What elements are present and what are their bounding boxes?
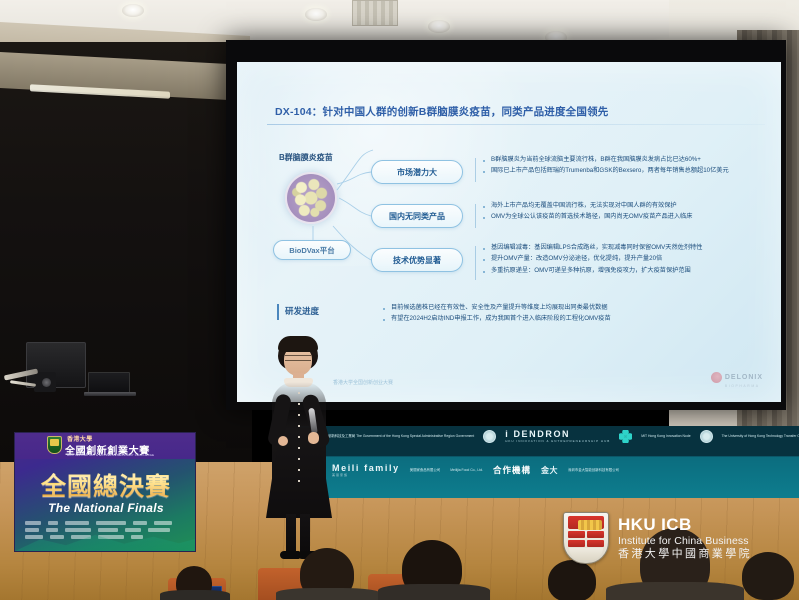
laptop: [88, 372, 130, 394]
partner-chip-icon: [46, 528, 58, 532]
bullet-group-technology: 基因编辑减毒：基因编辑LPS合成路丝，实现减毒同时保留OMV天然佐剂特性 提升O…: [483, 244, 702, 278]
bullet-dot-icon: [483, 206, 485, 208]
bullet-dot-icon: [383, 308, 385, 310]
presenter-right-hand: [308, 432, 319, 444]
hku-seal-icon: [483, 430, 496, 443]
bullet-text: 目前候选菌株已经在有效性、安全性及产量提升等维度上均展现出同类最优数据: [391, 304, 608, 312]
bullet-item: 提升OMV产量：改造OMV分泌途径，优化提纯，提升产量20倍: [483, 255, 702, 263]
idendron-name: i DENDRON: [505, 429, 570, 439]
idendron-brand: i DENDRON HKU INNOVATION & ENTREPRENEURS…: [505, 429, 610, 443]
audience-head: [548, 560, 596, 600]
partner-chip-icon: [133, 521, 147, 525]
audience-shoulders: [276, 588, 380, 600]
sponsor-text-tto: The University of Hong Kong Technology T…: [722, 434, 799, 439]
delonix-tagline: BIOPHARMA: [725, 384, 763, 388]
bullet-item: 海外上市产品均无覆盖中国流行株，无法实现对中国人群的有效保护: [483, 202, 692, 210]
partner-chip-icon: [25, 528, 39, 532]
downlight-icon: [305, 8, 327, 21]
bullet-dot-icon: [483, 217, 485, 219]
hku-tto-icon: [700, 430, 713, 443]
kingda-brand: 金大: [541, 465, 558, 476]
delonix-logo: DELONIX BIOPHARMA: [711, 366, 763, 388]
hku-crest-icon: [563, 512, 609, 564]
bullet-item: 多重抗原递呈：OMV可递呈多种抗原，增强免疫攻力，扩大疫苗保护范围: [483, 267, 702, 275]
banner-logo-row: [25, 528, 187, 532]
hku-crest-icon: [47, 436, 62, 454]
sponsor-banner: 創新科技及工業局 The Government of the Hong Kong…: [300, 426, 799, 498]
crest-quarter: [568, 531, 585, 538]
bacteria-illustration-icon: [285, 172, 337, 224]
partner-chip-icon: [25, 535, 43, 539]
partner-chip-icon: [50, 535, 64, 539]
sponsor-top-row: 創新科技及工業局 The Government of the Hong Kong…: [306, 429, 799, 443]
crest-quarter: [568, 540, 585, 547]
partner-chip-icon: [48, 521, 58, 525]
title-divider: [267, 124, 765, 125]
product-category-label: B群脑膜炎疫苗: [279, 152, 333, 163]
banner-title-en-small: HKU INNOVATION & ENTREPRENEURSHIP CHALLE…: [67, 453, 154, 457]
bullet-text: 有望在2024H2启动IND申报工作，成为我国首个进入临床阶段的工程化OMV疫苗: [391, 315, 611, 323]
presenter-left-hand: [278, 436, 288, 446]
bullet-divider: [475, 204, 476, 228]
audience-shoulders: [606, 582, 744, 600]
bullet-divider: [475, 246, 476, 280]
meilijia-food-en: Meilijia Food Co., Ltd.: [450, 468, 483, 473]
slide-title: DX-104：针对中国人群的创新B群脑膜炎疫苗，同类产品进度全国领先: [275, 104, 755, 119]
presenter-left-leg: [286, 514, 296, 554]
wall-left: [0, 42, 252, 462]
rd-progress-label: 研发进度: [285, 305, 319, 317]
rd-progress-bullets: 目前候选菌株已经在有效性、安全性及产量提升等维度上均展现出同类最优数据 有望在2…: [383, 304, 611, 327]
crest-shield-icon: [50, 439, 59, 446]
sponsor-text-hksar: 創新科技及工業局 The Government of the Hong Kong…: [328, 434, 474, 439]
shenzhen-kimdai-cn: 深圳市金大智能创新科技有限公司: [568, 468, 619, 473]
merit-pill-domestic: 国内无同类产品: [371, 204, 463, 228]
bullet-item: 有望在2024H2启动IND申报工作，成为我国首个进入临床阶段的工程化OMV疫苗: [383, 315, 611, 323]
bullet-text: 国际已上市产品包括辉瑞的Trumenba和GSK的Bexsero，两者每年销售总…: [491, 167, 729, 175]
bullet-group-market: B群脑膜炎为当前全球流脑主要流行株，B群在我国脑膜炎发病占比已达60%+ 国际已…: [483, 156, 729, 179]
partner-chip-icon: [125, 528, 141, 532]
presenter-left-shoe: [280, 551, 300, 559]
hku-icb-watermark: HKU ICB Institute for China Business 香港大…: [563, 512, 752, 564]
bullet-item: 基因编辑减毒：基因编辑LPS合成路丝，实现减毒同时保留OMV天然佐剂特性: [483, 244, 702, 252]
banner-main-title: 全國總決賽: [25, 467, 187, 503]
bullet-item: 国际已上市产品包括辉瑞的Trumenba和GSK的Bexsero，两者每年销售总…: [483, 167, 729, 175]
bullet-item: 目前候选菌株已经在有效性、安全性及产量提升等维度上均展现出同类最优数据: [383, 304, 611, 312]
merit-pill-technology: 技术优势显著: [371, 248, 463, 272]
crest-quarter: [587, 531, 604, 538]
partners-label: 合作機構: [493, 464, 531, 476]
sponsor-text-mit: MIT Hong Kong Innovation Node: [641, 434, 690, 439]
watermark-line3: 香港大學中國商業學院: [618, 548, 752, 561]
crest-banner: [568, 516, 604, 529]
audience-shoulders: [160, 590, 230, 600]
bullet-divider: [475, 158, 476, 182]
glasses-icon: [285, 355, 311, 361]
merit-pill-market: 市场潜力大: [371, 160, 463, 184]
watermark-line2: Institute for China Business: [618, 535, 752, 548]
crest-quarter: [587, 540, 604, 547]
partner-chip-icon: [65, 528, 91, 532]
presenter-fringe: [278, 336, 318, 352]
mit-node-flower-icon: [619, 430, 632, 443]
sponsor-bottom-row: Meili family 美丽家族 美丽家食品有限公司 Meilijia Foo…: [306, 462, 619, 478]
laptop-base: [84, 392, 136, 396]
bullet-text: OMV为全球公认该疫苗的首选技术路径，国内尚无OMV疫苗产品进入临床: [491, 213, 692, 221]
partner-chip-icon: [65, 521, 89, 525]
banner-logo-row: [25, 521, 187, 525]
dress-buttons: [298, 392, 300, 488]
crest-lions-icon: [578, 520, 602, 530]
bullet-dot-icon: [483, 248, 485, 250]
crest-motto-scroll: [569, 548, 603, 560]
delonix-name: DELONIX: [725, 374, 763, 381]
bullet-text: 海外上市产品均无覆盖中国流行株，无法实现对中国人群的有效保护: [491, 202, 677, 210]
partner-chip-icon: [148, 528, 170, 532]
lecture-hall-scene: DX-104：针对中国人群的创新B群脑膜炎疫苗，同类产品进度全国领先 B群脑膜炎…: [0, 0, 799, 600]
partner-chip-icon: [98, 528, 118, 532]
section-accent-bar: [277, 304, 279, 320]
bullet-text: B群脑膜炎为当前全球流脑主要流行株，B群在我国脑膜炎发病占比已达60%+: [491, 156, 701, 164]
presenter: [252, 336, 344, 568]
national-finals-banner: 香港大學 全國創新創業大賽 HKU INNOVATION & ENTREPREN…: [14, 432, 196, 552]
ceiling-vent: [352, 0, 398, 26]
partner-chip-icon: [25, 521, 41, 525]
bullet-dot-icon: [383, 319, 385, 321]
bullet-item: OMV为全球公认该疫苗的首选技术路径，国内尚无OMV疫苗产品进入临床: [483, 213, 692, 221]
downlight-icon: [122, 4, 144, 17]
bullet-dot-icon: [483, 259, 485, 261]
tripod-knob: [42, 378, 51, 387]
idendron-sub: HKU INNOVATION & ENTREPRENEURSHIP HUB: [505, 439, 610, 443]
meilijia-food-cn: 美丽家食品有限公司: [410, 468, 441, 473]
bullet-text: 提升OMV产量：改造OMV分泌途径，优化提纯，提升产量20倍: [491, 255, 662, 263]
partner-chip-icon: [131, 535, 143, 539]
bullet-item: B群脑膜炎为当前全球流脑主要流行株，B群在我国脑膜炎发病占比已达60%+: [483, 156, 729, 164]
bullet-dot-icon: [483, 171, 485, 173]
platform-pill: BioDVax平台: [273, 240, 351, 260]
watermark-text: HKU ICB Institute for China Business 香港大…: [618, 515, 752, 562]
downlight-icon: [428, 20, 450, 33]
partner-chip-icon: [96, 521, 126, 525]
delonix-mark-icon: [711, 372, 722, 383]
banner-main-subtitle: The National Finals: [15, 501, 196, 515]
crest-quarters: [568, 531, 604, 547]
watermark-line1: HKU ICB: [618, 515, 752, 536]
bullet-text: 基因编辑减毒：基因编辑LPS合成路丝，实现减毒同时保留OMV天然佐剂特性: [491, 244, 702, 252]
bullet-dot-icon: [483, 160, 485, 162]
bullet-text: 多重抗原递呈：OMV可递呈多种抗原，增强免疫攻力，扩大疫苗保护范围: [491, 267, 691, 275]
bullet-dot-icon: [483, 271, 485, 273]
presenter-right-leg: [300, 514, 310, 554]
partner-chip-icon: [154, 521, 172, 525]
audience-shoulders: [378, 584, 490, 600]
bullet-group-domestic: 海外上市产品均无覆盖中国流行株，无法实现对中国人群的有效保护 OMV为全球公认该…: [483, 202, 692, 225]
